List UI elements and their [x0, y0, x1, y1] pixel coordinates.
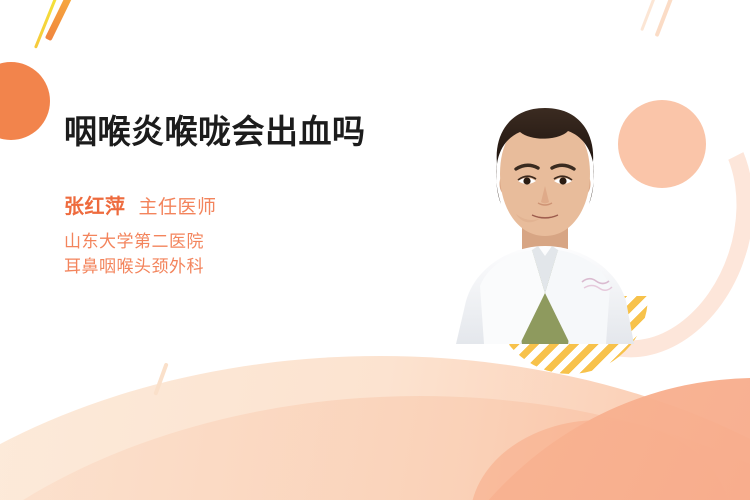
- department-name: 耳鼻咽喉头颈外科: [64, 254, 424, 279]
- wave-band-back: [0, 356, 750, 500]
- orange-stripe-icon: [45, 0, 72, 41]
- wave-blob: [470, 420, 730, 500]
- yellow-stripe-icon: [34, 0, 57, 49]
- video-cover-card: 咽喉炎喉咙会出血吗 张红萍 主任医师 山东大学第二医院 耳鼻咽喉头颈外科: [0, 0, 750, 500]
- hospital-name: 山东大学第二医院: [64, 229, 424, 254]
- doctor-title: 主任医师: [139, 192, 217, 219]
- doctor-affiliation: 山东大学第二医院 耳鼻咽喉头颈外科: [64, 229, 424, 279]
- doctor-byline: 张红萍 主任医师: [64, 190, 424, 219]
- doctor-portrait: [440, 96, 650, 344]
- page-title: 咽喉炎喉咙会出血吗: [64, 112, 394, 152]
- wave-band-mid: [0, 396, 750, 500]
- wave-band-front: [392, 378, 750, 500]
- orange-circle-icon: [0, 62, 50, 140]
- doctor-name: 张红萍: [64, 190, 126, 219]
- peach-stripe-icon-b: [640, 0, 658, 31]
- text-content: 咽喉炎喉咙会出血吗 张红萍 主任医师 山东大学第二医院 耳鼻咽喉头颈外科: [64, 112, 424, 279]
- peach-stripe-icon-c: [153, 362, 168, 395]
- peach-stripe-icon-a: [655, 0, 676, 37]
